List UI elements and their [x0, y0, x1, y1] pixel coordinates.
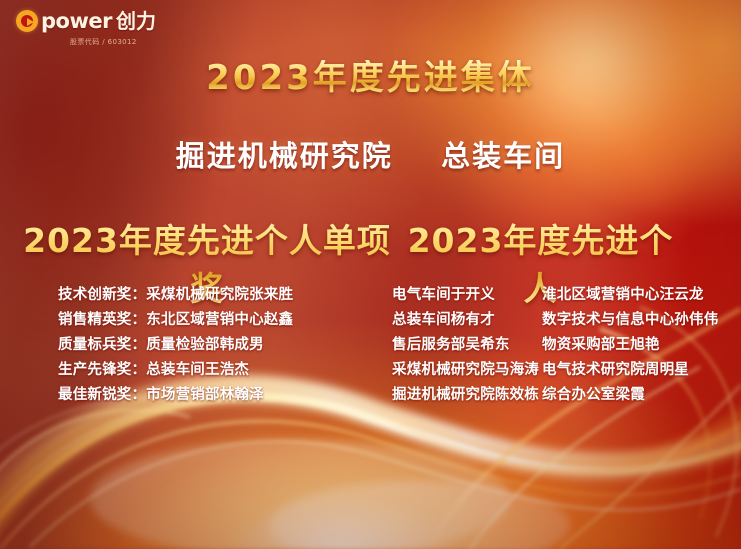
logo-word-power: power [41, 11, 112, 32]
power-circle-logo-icon [16, 10, 38, 32]
award-list-right: 电气车间于开义 淮北区域营销中心汪云龙 总装车间杨有才 数字技术与信息中心孙伟伟… [392, 285, 718, 406]
list-item-name-b: 淮北区域营销中心汪云龙 [542, 285, 704, 306]
list-item: 质量标兵奖：质量检验部韩成男 [58, 335, 293, 356]
list-item: 最佳新锐奖：市场营销部林翰泽 [58, 385, 293, 406]
stock-code-label: 股票代码 / 603012 [70, 37, 137, 47]
list-item-name-b: 综合办公室梁霞 [542, 385, 645, 406]
logo-wordmark-row: power 创力 [16, 10, 156, 32]
list-item-name-b: 电气技术研究院周明星 [542, 360, 689, 381]
list-item: 电气车间于开义 淮北区域营销中心汪云龙 [392, 285, 718, 306]
list-item-name-a: 掘进机械研究院陈效栋 [392, 385, 542, 406]
list-item: 技术创新奖：采煤机械研究院张来胜 [58, 285, 293, 306]
logo-word-chinese: 创力 [116, 11, 156, 31]
page-title: 2023年度先进集体 [0, 60, 741, 97]
award-poster: power 创力 股票代码 / 603012 2023年度先进集体 掘进机械研究… [0, 0, 741, 549]
list-item: 总装车间杨有才 数字技术与信息中心孙伟伟 [392, 310, 718, 331]
list-item: 掘进机械研究院陈效栋 综合办公室梁霞 [392, 385, 718, 406]
list-item: 采煤机械研究院马海涛 电气技术研究院周明星 [392, 360, 718, 381]
list-item-name-a: 总装车间杨有才 [392, 310, 542, 331]
award-list-left: 技术创新奖：采煤机械研究院张来胜 销售精英奖：东北区域营销中心赵鑫 质量标兵奖：… [58, 285, 293, 406]
list-item-name-a: 电气车间于开义 [392, 285, 542, 306]
list-item: 生产先锋奖：总装车间王浩杰 [58, 360, 293, 381]
list-item: 销售精英奖：东北区域营销中心赵鑫 [58, 310, 293, 331]
list-item-name-a: 售后服务部吴希东 [392, 335, 542, 356]
list-item: 售后服务部吴希东 物资采购部王旭艳 [392, 335, 718, 356]
list-item-name-b: 物资采购部王旭艳 [542, 335, 660, 356]
page-subtitle: 掘进机械研究院 总装车间 [0, 133, 741, 175]
list-item-name-a: 采煤机械研究院马海涛 [392, 360, 542, 381]
list-item-name-b: 数字技术与信息中心孙伟伟 [542, 310, 718, 331]
company-logo: power 创力 股票代码 / 603012 [16, 10, 156, 47]
